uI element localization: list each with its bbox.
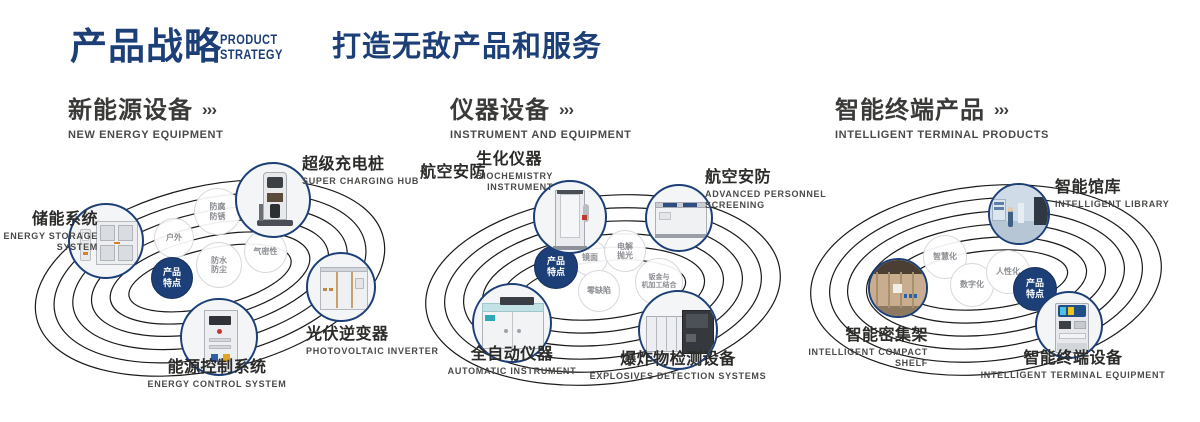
chevrons-right-icon: ›››	[994, 97, 1008, 123]
caption-en-line1: BIOCHEMISTRY	[476, 171, 553, 182]
charging-pile-icon	[237, 164, 309, 236]
cluster-instrument: 镜面 电解 抛光 钣金与 机加工结合 零缺陷 产品 特点	[400, 150, 800, 400]
feature-bubble-label: 气密性	[254, 247, 278, 257]
inverter-cabinet-icon	[308, 254, 374, 320]
feature-bubble-label: 户外	[166, 233, 182, 243]
feature-bubble: 防水 防尘	[196, 242, 242, 288]
cluster-new-energy: 户外 防腐 防锈 气密性 防水 防尘 产品 特点	[10, 150, 410, 400]
section-heading-cn: 新能源设备	[68, 97, 193, 124]
feature-bubble: 零缺陷	[578, 270, 620, 312]
page-title: 产品战略	[70, 28, 222, 65]
caption-en-line2: SYSTEM	[0, 242, 98, 253]
feature-bubble-label: 防水 防尘	[211, 256, 227, 275]
core-bubble-product-features: 产品 特点	[151, 257, 193, 299]
caption-cn: 储能系统	[0, 210, 98, 229]
section-heading-cn: 仪器设备	[450, 97, 550, 124]
section-heading-instrument: 仪器设备››› INSTRUMENT AND EQUIPMENT	[450, 97, 631, 141]
feature-bubble: 防腐 防锈	[194, 188, 241, 235]
node-advanced-personnel-screening[interactable]	[645, 184, 713, 252]
caption-cn: 全自动仪器	[422, 345, 602, 364]
node-photovoltaic-inverter[interactable]	[306, 252, 376, 322]
section-heading-cn: 智能终端产品	[835, 97, 985, 124]
section-heading-en: NEW ENERGY EQUIPMENT	[68, 129, 223, 141]
caption-cn: 智能馆库	[1055, 178, 1169, 197]
self-service-kiosk-icon	[1037, 293, 1101, 357]
page-title-english-line1: PRODUCT	[220, 32, 283, 47]
page-header: 产品战略 PRODUCT STRATEGY 打造无敌产品和服务	[0, 0, 1200, 92]
feature-bubble-label: 零缺陷	[587, 286, 611, 296]
feature-bubble-label: 镜面	[582, 253, 598, 263]
caption-cn: 智能终端设备	[953, 349, 1193, 368]
feature-bubble-label: 电解 抛光	[617, 242, 633, 261]
caption-en-line1: ENERGY STORAGE	[0, 231, 98, 242]
caption-intelligent-library: 智能馆库 INTELLIGENT LIBRARY	[1055, 178, 1169, 210]
node-super-charging-hub[interactable]	[235, 162, 311, 238]
feature-bubble: 户外	[154, 218, 194, 258]
caption-biochemistry-instrument: 生化仪器 BIOCHEMISTRY INSTRUMENT	[476, 150, 553, 193]
chevrons-right-icon: ›››	[202, 97, 216, 123]
core-bubble-label: 产品 特点	[163, 267, 181, 289]
screening-machine-icon	[647, 186, 711, 250]
cluster-intelligent-terminal: 智慧化 数字化 人性化 产品 特点	[790, 150, 1190, 400]
caption-energy-control-system: 能源控制系统 ENERGY CONTROL SYSTEM	[132, 358, 302, 390]
caption-cn: 生化仪器	[476, 150, 553, 169]
page-title-english-line2: STRATEGY	[220, 47, 283, 62]
caption-intelligent-terminal-equipment: 智能终端设备 INTELLIGENT TERMINAL EQUIPMENT	[953, 349, 1193, 381]
caption-en-line2: INSTRUMENT	[476, 182, 553, 193]
node-intelligent-library[interactable]	[988, 183, 1050, 245]
poster-canvas: 产品战略 PRODUCT STRATEGY 打造无敌产品和服务 新能源设备›››…	[0, 0, 1200, 422]
page-title-english: PRODUCT STRATEGY	[220, 32, 283, 62]
feature-bubble-label: 钣金与 机加工结合	[642, 274, 677, 291]
caption-automatic-instrument: 全自动仪器 AUTOMATIC INSTRUMENT	[422, 345, 602, 377]
section-heading-cn-wrap: 智能终端产品›››	[835, 97, 1049, 124]
feature-bubble-label: 防腐 防锈	[210, 202, 226, 221]
library-room-icon	[990, 185, 1048, 243]
caption-en-line2: SHELF	[780, 358, 928, 369]
core-bubble-label: 产品 特点	[547, 256, 565, 278]
caption-en-line1: ENERGY CONTROL SYSTEM	[132, 379, 302, 390]
caption-energy-storage: 储能系统 ENERGY STORAGE SYSTEM	[0, 210, 98, 253]
page-subtitle: 打造无敌产品和服务	[332, 32, 602, 64]
caption-en-line1: AUTOMATIC INSTRUMENT	[422, 366, 602, 377]
caption-intelligent-compact-shelf: 智能密集架 INTELLIGENT COMPACT SHELF	[780, 326, 928, 369]
chevrons-right-icon: ›››	[559, 97, 573, 123]
section-heading-intelligent-terminal: 智能终端产品››› INTELLIGENT TERMINAL PRODUCTS	[835, 97, 1049, 141]
node-intelligent-compact-shelf[interactable]	[868, 258, 928, 318]
section-heading-en: INSTRUMENT AND EQUIPMENT	[450, 129, 631, 141]
compact-shelf-icon	[870, 260, 926, 316]
caption-en-line1: INTELLIGENT COMPACT	[780, 347, 928, 358]
section-heading-new-energy: 新能源设备››› NEW ENERGY EQUIPMENT	[68, 97, 223, 141]
caption-cn: 能源控制系统	[132, 358, 302, 377]
feature-bubble-label: 数字化	[960, 280, 984, 290]
caption-cn: 智能密集架	[780, 326, 928, 345]
caption-en-line1: INTELLIGENT LIBRARY	[1055, 199, 1169, 210]
section-heading-en: INTELLIGENT TERMINAL PRODUCTS	[835, 129, 1049, 141]
section-heading-cn-wrap: 仪器设备›››	[450, 97, 631, 124]
caption-en-line1: INTELLIGENT TERMINAL EQUIPMENT	[953, 370, 1193, 381]
section-heading-cn-wrap: 新能源设备›››	[68, 97, 223, 124]
feature-bubble-label: 智慧化	[933, 252, 957, 262]
